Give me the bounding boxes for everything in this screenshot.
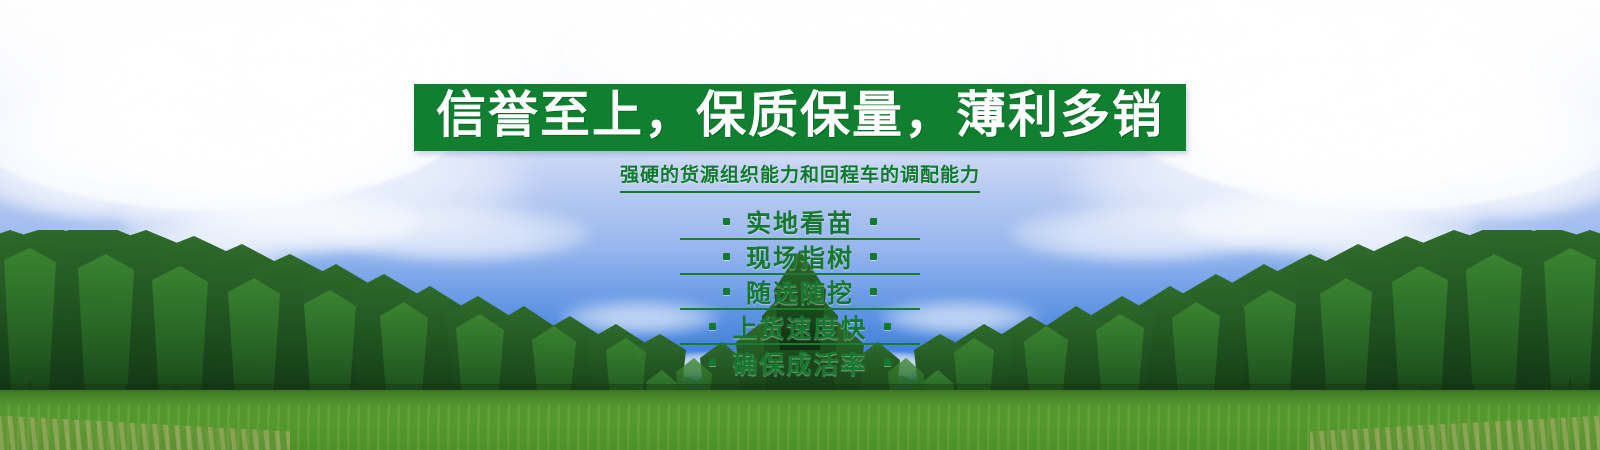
- feature-item: 上货速度快: [680, 310, 920, 345]
- bullet-dot-icon: [870, 218, 877, 225]
- bullet-dot-icon: [723, 288, 730, 295]
- bullet-dot-icon: [884, 323, 891, 330]
- bullet-dot-icon: [870, 288, 877, 295]
- subtitle-text: 强硬的货源组织能力和回程车的调配能力: [620, 160, 980, 193]
- bullet-dot-icon: [709, 323, 716, 330]
- feature-label: 上货速度快: [732, 309, 867, 345]
- bullet-dot-icon: [723, 218, 730, 225]
- feature-label: 实地看苗: [746, 204, 854, 240]
- treeline-shadow: [0, 384, 1600, 406]
- promo-banner: 信誉至上，保质保量，薄利多销 强硬的货源组织能力和回程车的调配能力 实地看苗 现…: [0, 0, 1600, 450]
- feature-item: 确保成活率: [680, 345, 920, 380]
- headline-text: 信誉至上，保质保量，薄利多销: [436, 89, 1164, 142]
- green-crop-field: [0, 390, 1600, 450]
- feature-label: 随选随挖: [746, 274, 854, 310]
- headline-bar: 信誉至上，保质保量，薄利多销: [414, 84, 1186, 151]
- bullet-dot-icon: [709, 359, 716, 366]
- bullet-dot-icon: [723, 253, 730, 260]
- bullet-dot-icon: [870, 253, 877, 260]
- feature-label: 现场指树: [746, 239, 854, 275]
- feature-item: 实地看苗: [680, 205, 920, 240]
- feature-item: 现场指树: [680, 240, 920, 275]
- feature-list: 实地看苗 现场指树 随选随挖 上货速度快 确保成活率: [680, 205, 920, 380]
- banner-content: 信誉至上，保质保量，薄利多销 强硬的货源组织能力和回程车的调配能力 实地看苗 现…: [0, 0, 1600, 380]
- bullet-dot-icon: [884, 359, 891, 366]
- feature-label: 确保成活率: [732, 345, 867, 381]
- feature-item: 随选随挖: [680, 275, 920, 310]
